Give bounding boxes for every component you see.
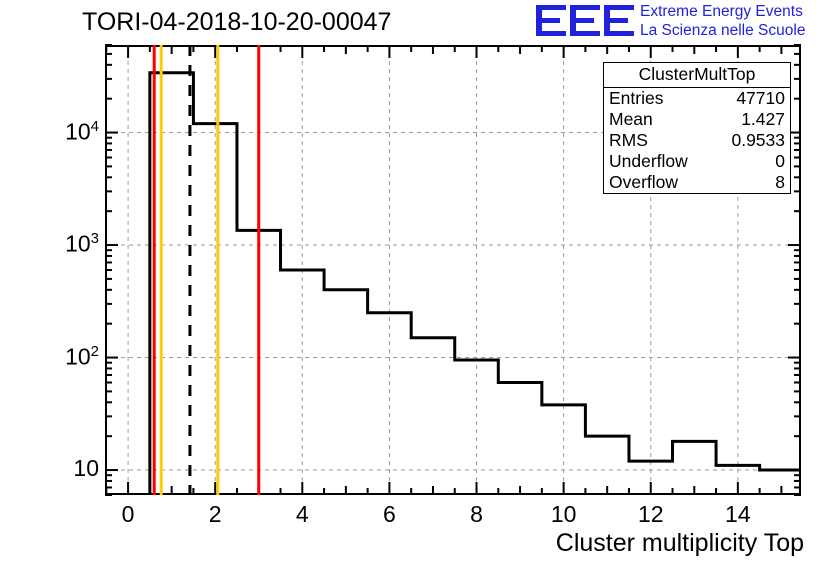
- stats-row: Entries47710: [604, 88, 790, 109]
- stats-row-key: RMS: [609, 130, 648, 151]
- y-tick-label: 10: [37, 455, 99, 482]
- stats-row: Overflow8: [604, 172, 790, 193]
- stats-rows: Entries47710Mean1.427RMS0.9533Underflow0…: [604, 88, 790, 193]
- stats-title: ClusterMultTop: [604, 63, 790, 88]
- x-axis-title: Cluster multiplicity Top: [556, 529, 804, 558]
- stats-box: ClusterMultTop Entries47710Mean1.427RMS0…: [603, 62, 791, 194]
- stats-row: Mean1.427: [604, 109, 790, 130]
- stats-row-key: Entries: [609, 88, 663, 109]
- stats-row-key: Underflow: [609, 151, 688, 172]
- stats-row-value: 1.427: [741, 109, 785, 130]
- stats-row: RMS0.9533: [604, 130, 790, 151]
- y-tick-label: 102: [37, 343, 99, 371]
- stats-row-key: Mean: [609, 109, 653, 130]
- y-tick-label: 104: [37, 118, 99, 146]
- stats-row-value: 47710: [736, 88, 785, 109]
- stats-row-value: 0.9533: [731, 130, 785, 151]
- root-canvas: TORI-04-2018-10-20-00047 Extreme Energy …: [0, 0, 836, 572]
- stats-row-key: Overflow: [609, 172, 678, 193]
- stats-row-value: 8: [775, 172, 785, 193]
- stats-row-value: 0: [775, 151, 785, 172]
- y-tick-label: 103: [37, 230, 99, 258]
- stats-row: Underflow0: [604, 151, 790, 172]
